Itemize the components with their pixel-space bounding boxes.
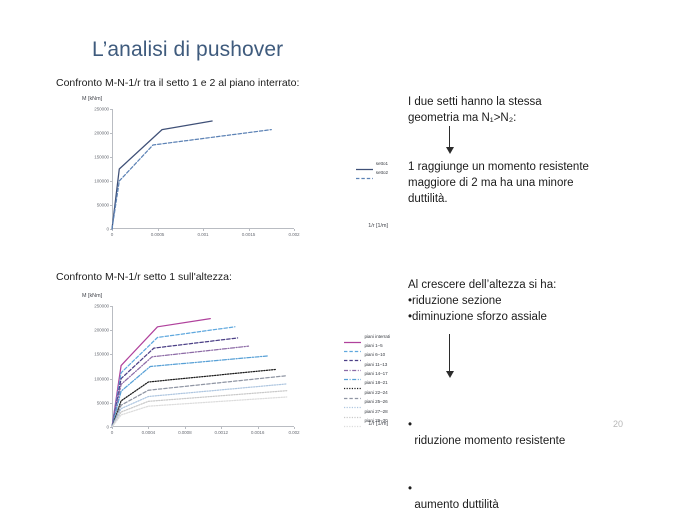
legend-label: piani 25–26 (364, 399, 387, 404)
legend-label: piani 22–24 (364, 390, 387, 395)
bullet-glyph: • (408, 483, 412, 495)
legend-label: setto1 (376, 161, 388, 166)
x-tick-mark (221, 427, 222, 429)
legend-swatch (344, 370, 361, 377)
x-tick-mark (294, 229, 295, 231)
chart2-plot-area: 050000100000150000200000250000 00.00040.… (112, 306, 294, 427)
x-tick-label: 0.0008 (178, 430, 191, 435)
page-number: 20 (613, 419, 623, 429)
x-tick-label: 0.0015 (242, 232, 255, 237)
y-tick-label: 0 (107, 227, 109, 232)
page-title: L’analisi di pushover (92, 38, 283, 62)
x-tick-mark (185, 427, 186, 429)
legend-swatch (344, 379, 361, 386)
chart1-legend: setto1setto2 (356, 159, 388, 176)
x-tick-label: 0 (111, 430, 113, 435)
legend-swatch (344, 389, 361, 396)
legend-label: piani 1–5 (364, 343, 382, 348)
y-tick-label: 150000 (94, 155, 109, 160)
chart-mn-setto1-setto2: M [kNm] 1/r [1/m] 0500001000001500002000… (60, 95, 390, 255)
x-tick-mark (249, 229, 250, 231)
y-tick-label: 50000 (97, 203, 109, 208)
chart1-plot-area: 050000100000150000200000250000 00.00050.… (112, 109, 294, 229)
legend-item: piani 25–26 (344, 398, 390, 406)
chart2-caption: Confronto M-N-1/r setto 1 sull'altezza: (56, 271, 232, 283)
conclusion-label-2: aumento duttilità (414, 499, 498, 511)
legend-swatch (356, 169, 373, 176)
x-tick-label: 0.0004 (142, 430, 155, 435)
legend-item: piani 6–10 (344, 351, 390, 359)
series-line (112, 121, 212, 229)
legend-item: setto2 (356, 168, 388, 176)
y-tick-label: 50000 (97, 400, 109, 405)
conclusion-label-1: riduzione momento resistente (414, 435, 565, 447)
legend-item: piani 18–21 (344, 379, 390, 387)
bullet-glyph: • (408, 419, 412, 431)
legend-swatch (344, 398, 361, 405)
y-tick-label: 250000 (94, 304, 109, 309)
note-momento-resistente: 1 raggiunge un momento resistente maggio… (408, 159, 658, 207)
x-tick-label: 0.002 (289, 430, 300, 435)
x-tick-label: 0.0012 (214, 430, 227, 435)
legend-item: piani 22–24 (344, 388, 390, 396)
down-arrow-icon-2 (444, 334, 455, 378)
legend-swatch (344, 408, 361, 415)
x-tick-mark (148, 427, 149, 429)
x-tick-mark (294, 427, 295, 429)
legend-swatch (344, 351, 361, 358)
x-tick-mark (203, 229, 204, 231)
y-tick-label: 250000 (94, 107, 109, 112)
legend-label: piani interrati (364, 334, 390, 339)
note-altezza: Al crescere dell’altezza si ha: •riduzio… (408, 277, 658, 325)
legend-label: setto2 (376, 170, 388, 175)
x-tick-label: 0 (111, 232, 113, 237)
x-tick-mark (158, 229, 159, 231)
y-tick-label: 100000 (94, 376, 109, 381)
legend-swatch (344, 342, 361, 349)
legend-label: piani 6–10 (364, 352, 385, 357)
series-line (112, 130, 271, 229)
chart1-y-axis-title: M [kNm] (82, 96, 102, 102)
slide: L’analisi di pushover Confronto M-N-1/r … (0, 0, 700, 494)
legend-label: piani 29–30 (364, 418, 387, 423)
chart2-y-axis-title: M [kNm] (82, 293, 102, 299)
legend-label: piani 27–28 (364, 409, 387, 414)
legend-item: piani 14–17 (344, 370, 390, 378)
legend-item: piani 29–30 (344, 417, 390, 425)
y-tick-label: 100000 (94, 179, 109, 184)
x-tick-label: 0.0016 (251, 430, 264, 435)
legend-item: piani 1–5 (344, 341, 390, 349)
chart1-series (112, 109, 294, 229)
x-tick-label: 0.001 (198, 232, 209, 237)
chart1-caption: Confronto M-N-1/r tra il setto 1 e 2 al … (56, 77, 299, 89)
note-geometry: I due setti hanno la stessa geometria ma… (408, 94, 658, 126)
legend-item: piani interrati (344, 332, 390, 340)
y-tick-label: 150000 (94, 352, 109, 357)
x-tick-label: 0.002 (289, 232, 300, 237)
legend-label: piani 18–21 (364, 380, 387, 385)
chart2-series (112, 306, 294, 427)
chart1-x-axis-title: 1/r [1/m] (368, 223, 388, 229)
x-tick-label: 0.0005 (151, 232, 164, 237)
legend-label: piani 14–17 (364, 371, 387, 376)
y-tick-label: 200000 (94, 131, 109, 136)
note-conclusioni: • riduzione momento resistente • aumento… (408, 385, 658, 529)
legend-item: setto1 (356, 159, 388, 167)
chart-mn-setto1-altezza: M [kNm] 1/r [1/m] 0500001000001500002000… (60, 292, 390, 455)
x-tick-mark (258, 427, 259, 429)
legend-swatch (344, 361, 361, 368)
legend-item: piani 27–28 (344, 407, 390, 415)
conclusion-item-2: • aumento duttilità (408, 465, 658, 513)
y-tick-label: 200000 (94, 328, 109, 333)
chart2-legend: piani interratipiani 1–5piani 6–10piani … (344, 332, 390, 425)
y-tick-label: 0 (107, 425, 109, 430)
legend-label: piani 11–13 (364, 362, 387, 367)
legend-swatch (344, 417, 361, 424)
down-arrow-icon-1 (444, 126, 455, 154)
legend-item: piani 11–13 (344, 360, 390, 368)
legend-swatch (356, 160, 373, 167)
legend-swatch (344, 333, 361, 340)
